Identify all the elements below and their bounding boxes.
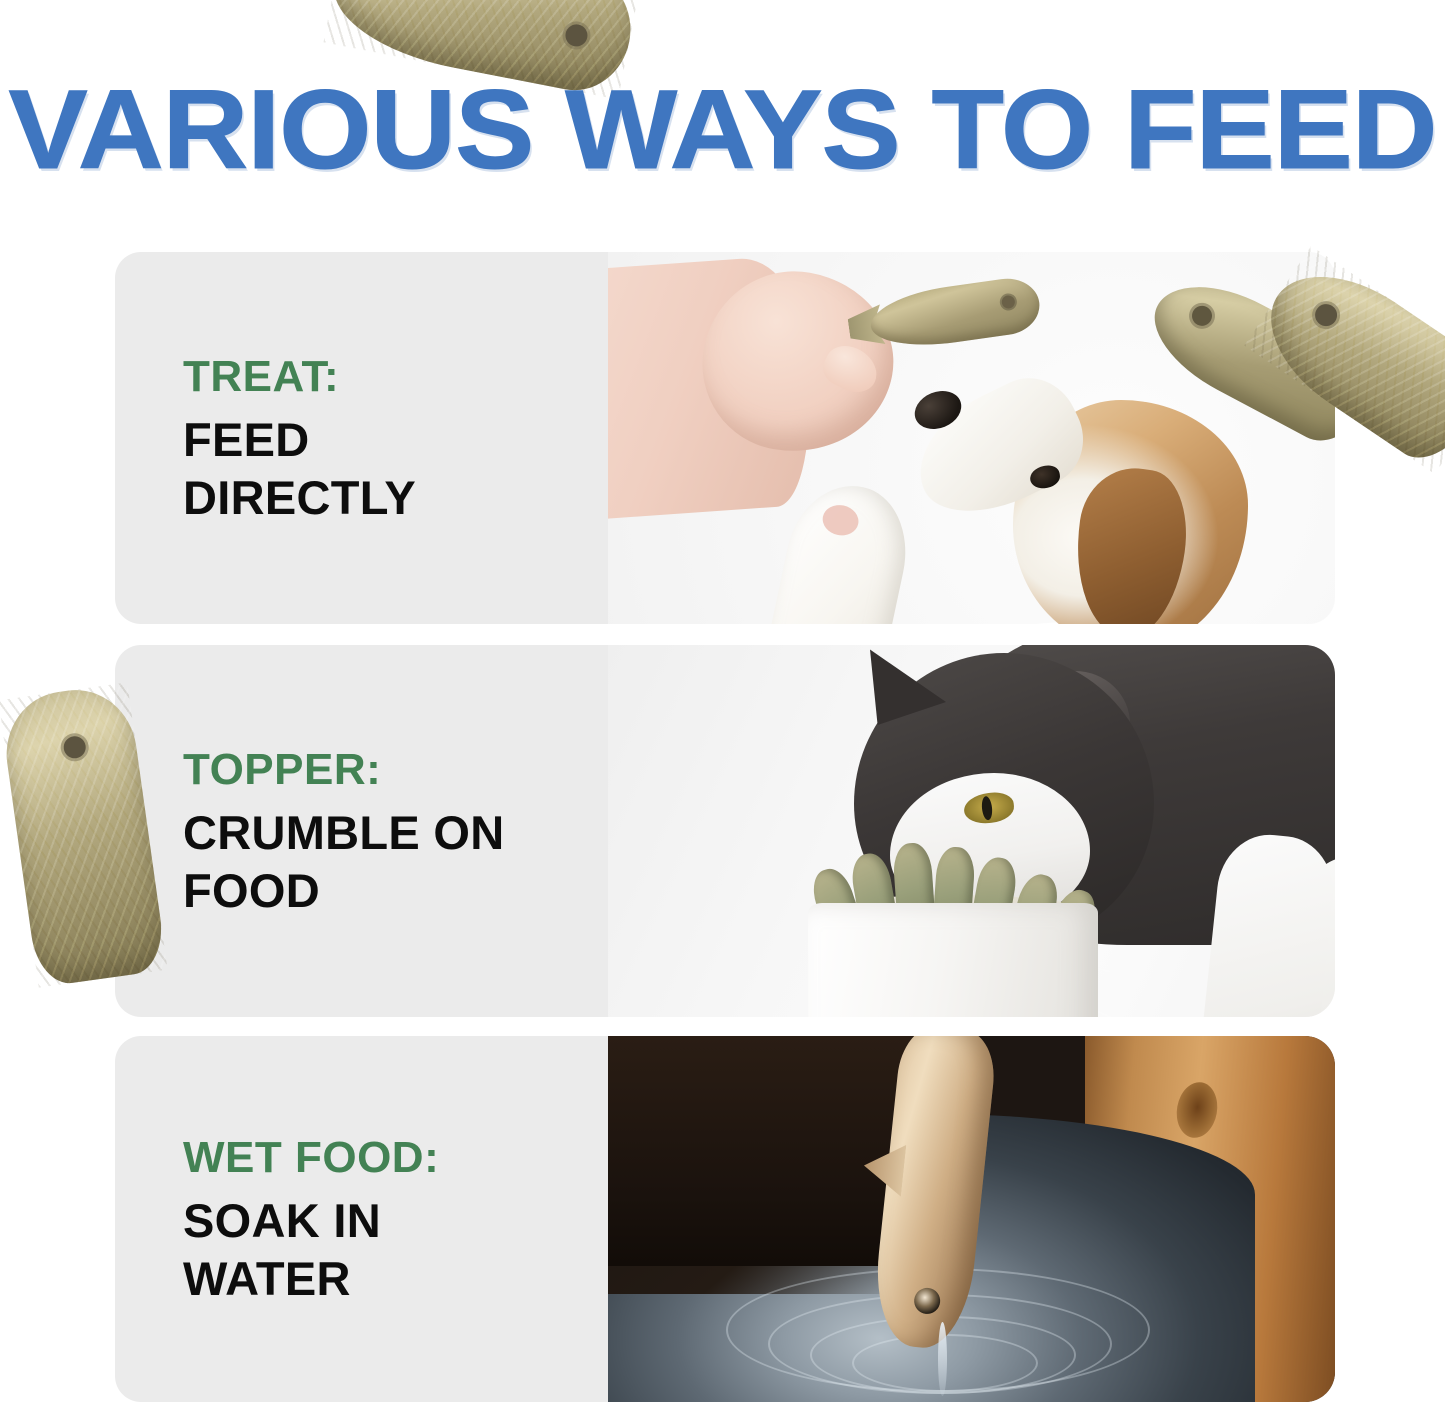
food-bowl [808,903,1098,1017]
photo-hand-feeding-dog [608,252,1335,624]
feeding-method-row-wet-food: WET FOOD: SOAK IN WATER [115,1036,1335,1402]
feeding-method-row-treat: TREAT: FEED DIRECTLY [115,252,1335,624]
text-panel-treat: TREAT: FEED DIRECTLY [115,252,608,624]
text-panel-topper: TOPPER: CRUMBLE ON FOOD [115,645,608,1017]
photo-fish-soaking-in-water [608,1036,1335,1402]
method-detail-treat: FEED DIRECTLY [183,411,553,527]
feeding-method-row-topper: TOPPER: CRUMBLE ON FOOD [115,645,1335,1017]
method-label-wet-food: WET FOOD: [183,1130,608,1186]
method-detail-wet-food: SOAK IN WATER [183,1192,553,1308]
page-title: VARIOUS WAYS TO FEED [0,78,1445,182]
paw-pad [820,502,861,539]
text-panel-wet-food: WET FOOD: SOAK IN WATER [115,1036,608,1402]
method-label-treat: TREAT: [183,349,608,405]
method-detail-topper: CRUMBLE ON FOOD [183,804,553,920]
photo-cat-eating-from-bowl [608,645,1335,1017]
dog-head [908,372,1238,624]
method-label-topper: TOPPER: [183,742,608,798]
water-drip [938,1322,947,1396]
infographic-page: VARIOUS WAYS TO FEED TREAT: FEED DIRECTL… [0,0,1445,1409]
